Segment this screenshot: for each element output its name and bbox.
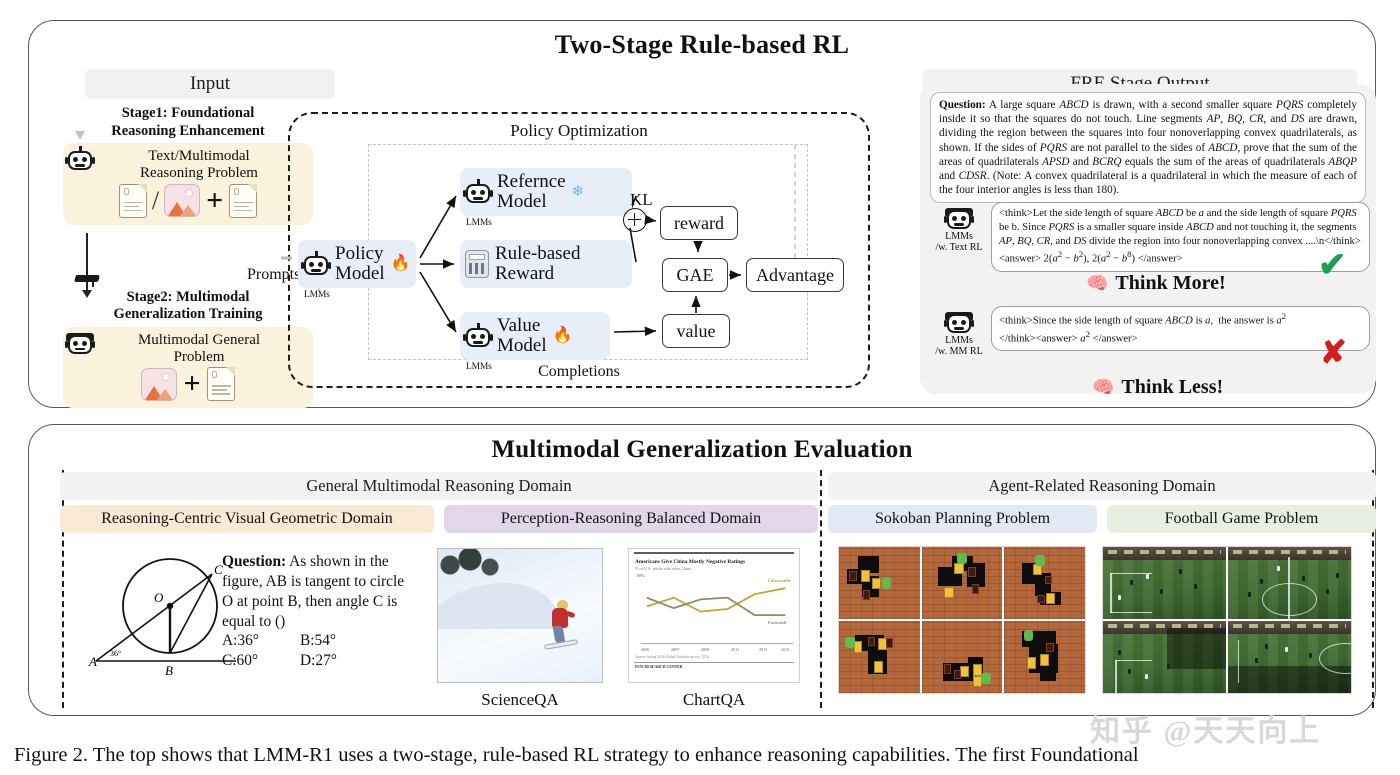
flame-icon: 🔥 xyxy=(553,328,573,344)
advantage-node: Advantage xyxy=(746,258,844,292)
policy-model-sublabel: LMMs xyxy=(304,290,330,300)
pill-geometric-domain[interactable]: Reasoning-Centric Visual Geometric Domai… xyxy=(60,505,434,533)
chart-plot-area: 80% 2006 2007 2009 2011 2013 2016 Unfavo… xyxy=(635,574,793,644)
flame-icon: 🔥 xyxy=(391,256,411,272)
divider-middle xyxy=(820,470,822,708)
value-model-chip: ValueModel 🔥 LMMs xyxy=(460,312,610,360)
pill-football-problem[interactable]: Football Game Problem xyxy=(1107,505,1376,533)
gae-node: GAE xyxy=(662,258,728,292)
text-rl-model-label: LMMs/w. Text RL xyxy=(930,231,988,253)
reward-node: reward xyxy=(660,206,738,240)
feedback-arrow xyxy=(78,30,80,132)
kl-label: KL xyxy=(630,190,653,210)
scienceqa-caption: ScienceQA xyxy=(437,690,603,710)
mm-rl-model-block: LMMs/w. MM RL xyxy=(930,306,988,357)
image-icon xyxy=(164,184,200,217)
graduation-cap-icon xyxy=(75,273,101,287)
plus-icon: + xyxy=(183,369,200,399)
geometry-options-row-2: C:60° D:27° xyxy=(222,651,412,671)
stage1-title: Stage1: FoundationalReasoning Enhancemen… xyxy=(63,105,313,140)
image-icon xyxy=(141,368,177,401)
robot-icon xyxy=(465,179,491,205)
stage1-problem-box: Text/MultimodalReasoning Problem / + xyxy=(63,143,313,224)
chart-series-svg xyxy=(641,582,795,636)
document-icon xyxy=(119,184,147,218)
geometry-question-block: Question: As shown in the figure, AB is … xyxy=(222,552,412,671)
chart-bottom-rule xyxy=(634,662,794,663)
policy-model-chip: PolicyModel 🔥 LMMs xyxy=(298,240,416,288)
chart-legend-unfavorable: Unfavorable xyxy=(768,578,791,583)
sokoban-cell xyxy=(1004,621,1085,693)
rule-based-reward-chip: Rule-basedReward xyxy=(460,240,632,288)
figure-caption: Figure 2. The top shows that LMM-R1 uses… xyxy=(14,744,1394,767)
sokoban-cell xyxy=(839,621,920,693)
text-rl-model-block: LMMs/w. Text RL xyxy=(930,202,988,253)
chart-subtitle: % of U.S. adults who view China ... xyxy=(635,566,793,571)
chart-title: Americans Give China Mostly Negative Rat… xyxy=(635,559,793,565)
text-rl-answer-text: <think>Let the side length of square ABC… xyxy=(991,202,1370,272)
chart-xtick-5: 2016 xyxy=(781,647,789,652)
circle-plus-icon xyxy=(623,208,647,232)
agent-domain-header: Agent-Related Reasoning Domain xyxy=(828,472,1376,500)
stage1-problem-label: Text/MultimodalReasoning Problem xyxy=(93,148,305,182)
bottom-panel-title: Multimodal Generalization Evaluation xyxy=(29,436,1375,464)
pill-sokoban-problem[interactable]: Sokoban Planning Problem xyxy=(828,505,1097,533)
stage2-problem-label: Multimodal GeneralProblem xyxy=(93,332,305,366)
sokoban-cell xyxy=(922,547,1003,619)
geometry-options-row-1: A:36° B:54° xyxy=(222,631,412,651)
sokoban-cell xyxy=(922,621,1003,693)
geometry-question-text: Question: As shown in the figure, AB is … xyxy=(222,552,412,631)
calculator-icon xyxy=(465,250,489,278)
fre-stage-output-box: Question: A large square ABCD is drawn, … xyxy=(920,84,1376,394)
robot-icon xyxy=(67,330,93,356)
value-model-sublabel: LMMs xyxy=(466,362,492,372)
chart-x-axis xyxy=(641,643,793,644)
general-domain-header: General Multimodal Reasoning Domain xyxy=(60,472,818,500)
geo-label-a: A xyxy=(88,654,97,669)
think-more-label: Think More! xyxy=(1115,272,1225,295)
geo-label-b: B xyxy=(165,663,173,678)
mm-rl-model-label: LMMs/w. MM RL xyxy=(930,335,988,357)
geometry-option-d[interactable]: D:27° xyxy=(300,651,337,671)
robot-icon xyxy=(946,309,972,335)
rule-based-reward-label: Rule-basedReward xyxy=(495,244,580,284)
geometry-option-b[interactable]: B:54° xyxy=(300,631,336,651)
value-model-label: ValueModel xyxy=(497,316,547,356)
brain-icon: 🧠 xyxy=(1092,377,1114,398)
football-cell xyxy=(1103,547,1226,619)
sokoban-cell xyxy=(839,547,920,619)
chartqa-caption: ChartQA xyxy=(628,690,800,710)
input-section-header: Input xyxy=(85,69,335,99)
reference-model-chip: RefernceModel ❄ LMMs xyxy=(460,168,632,216)
slash-separator: / xyxy=(152,186,159,216)
chartqa-image: Americans Give China Mostly Negative Rat… xyxy=(628,548,800,683)
reference-model-label: RefernceModel xyxy=(497,172,566,212)
robot-icon xyxy=(67,146,93,172)
brain-icon: 🧠 xyxy=(1086,273,1108,294)
robot-icon xyxy=(465,323,491,349)
chart-xtick-0: 2006 xyxy=(641,647,649,652)
document-icon xyxy=(207,367,235,401)
text-rl-answer-row: LMMs/w. Text RL <think>Let the side leng… xyxy=(930,202,1370,272)
chart-xtick-1: 2007 xyxy=(671,647,679,652)
completions-label: Completions xyxy=(290,363,868,381)
chart-top-rule xyxy=(634,552,794,554)
football-cell xyxy=(1103,621,1226,693)
geometry-option-c[interactable]: C:60° xyxy=(222,651,300,671)
general-multimodal-domain-group: General Multimodal Reasoning Domain Reas… xyxy=(60,472,818,533)
policy-model-label: PolicyModel xyxy=(335,244,385,284)
general-domain-pills: Reasoning-Centric Visual Geometric Domai… xyxy=(60,505,818,533)
snowflake-icon: ❄ xyxy=(572,185,585,200)
mm-rl-answer-text: <think>Since the side length of square A… xyxy=(991,306,1370,351)
chart-xtick-3: 2011 xyxy=(731,647,739,652)
sokoban-cell xyxy=(1004,547,1085,619)
snowboarder xyxy=(546,596,576,652)
geo-label-o: O xyxy=(154,590,164,605)
stage1-asset-row: / + xyxy=(71,184,305,218)
stage2-asset-row: + xyxy=(71,367,305,401)
policy-optimization-title: Policy Optimization xyxy=(290,121,868,141)
think-less-label: Think Less! xyxy=(1121,376,1223,399)
chart-brand: PEW RESEARCH CENTER xyxy=(635,665,793,669)
mm-rl-answer-row: LMMs/w. MM RL <think>Since the side leng… xyxy=(930,306,1370,357)
chart-legend-favorable: Favorable xyxy=(768,620,787,625)
think-more-verdict: 🧠 Think More! xyxy=(1086,272,1374,295)
value-node: value xyxy=(662,314,730,348)
agent-domain-group: Agent-Related Reasoning Domain Sokoban P… xyxy=(828,472,1376,533)
cross-mark-icon: ✘ xyxy=(1320,336,1347,368)
chart-xtick-2: 2009 xyxy=(701,647,709,652)
sokoban-image-grid xyxy=(838,546,1086,694)
plus-icon: + xyxy=(206,186,223,216)
football-cell xyxy=(1228,621,1351,693)
top-panel-title: Two-Stage Rule-based RL xyxy=(29,30,1375,60)
football-image-grid xyxy=(1102,546,1352,694)
stage2-problem-box: Multimodal GeneralProblem + xyxy=(63,327,313,408)
chart-source: Source: Spring 2016 Global Attitudes sur… xyxy=(635,655,793,659)
agent-domain-pills: Sokoban Planning Problem Football Game P… xyxy=(828,505,1376,533)
chart-xtick-4: 2013 xyxy=(759,647,767,652)
geometry-option-a[interactable]: A:36° xyxy=(222,631,300,651)
think-less-verdict: 🧠 Think Less! xyxy=(1092,376,1374,399)
document-icon xyxy=(229,184,257,218)
fre-question-text: Question: A large square ABCD is drawn, … xyxy=(930,92,1366,203)
geo-label-angle: 36° xyxy=(110,649,121,658)
football-cell xyxy=(1228,547,1351,619)
robot-icon xyxy=(946,205,972,231)
robot-icon xyxy=(303,251,329,277)
reference-model-sublabel: LMMs xyxy=(466,218,492,228)
pill-perception-domain[interactable]: Perception-Reasoning Balanced Domain xyxy=(444,505,818,533)
scienceqa-image xyxy=(437,548,603,683)
chart-y-label: 80% xyxy=(637,573,645,578)
